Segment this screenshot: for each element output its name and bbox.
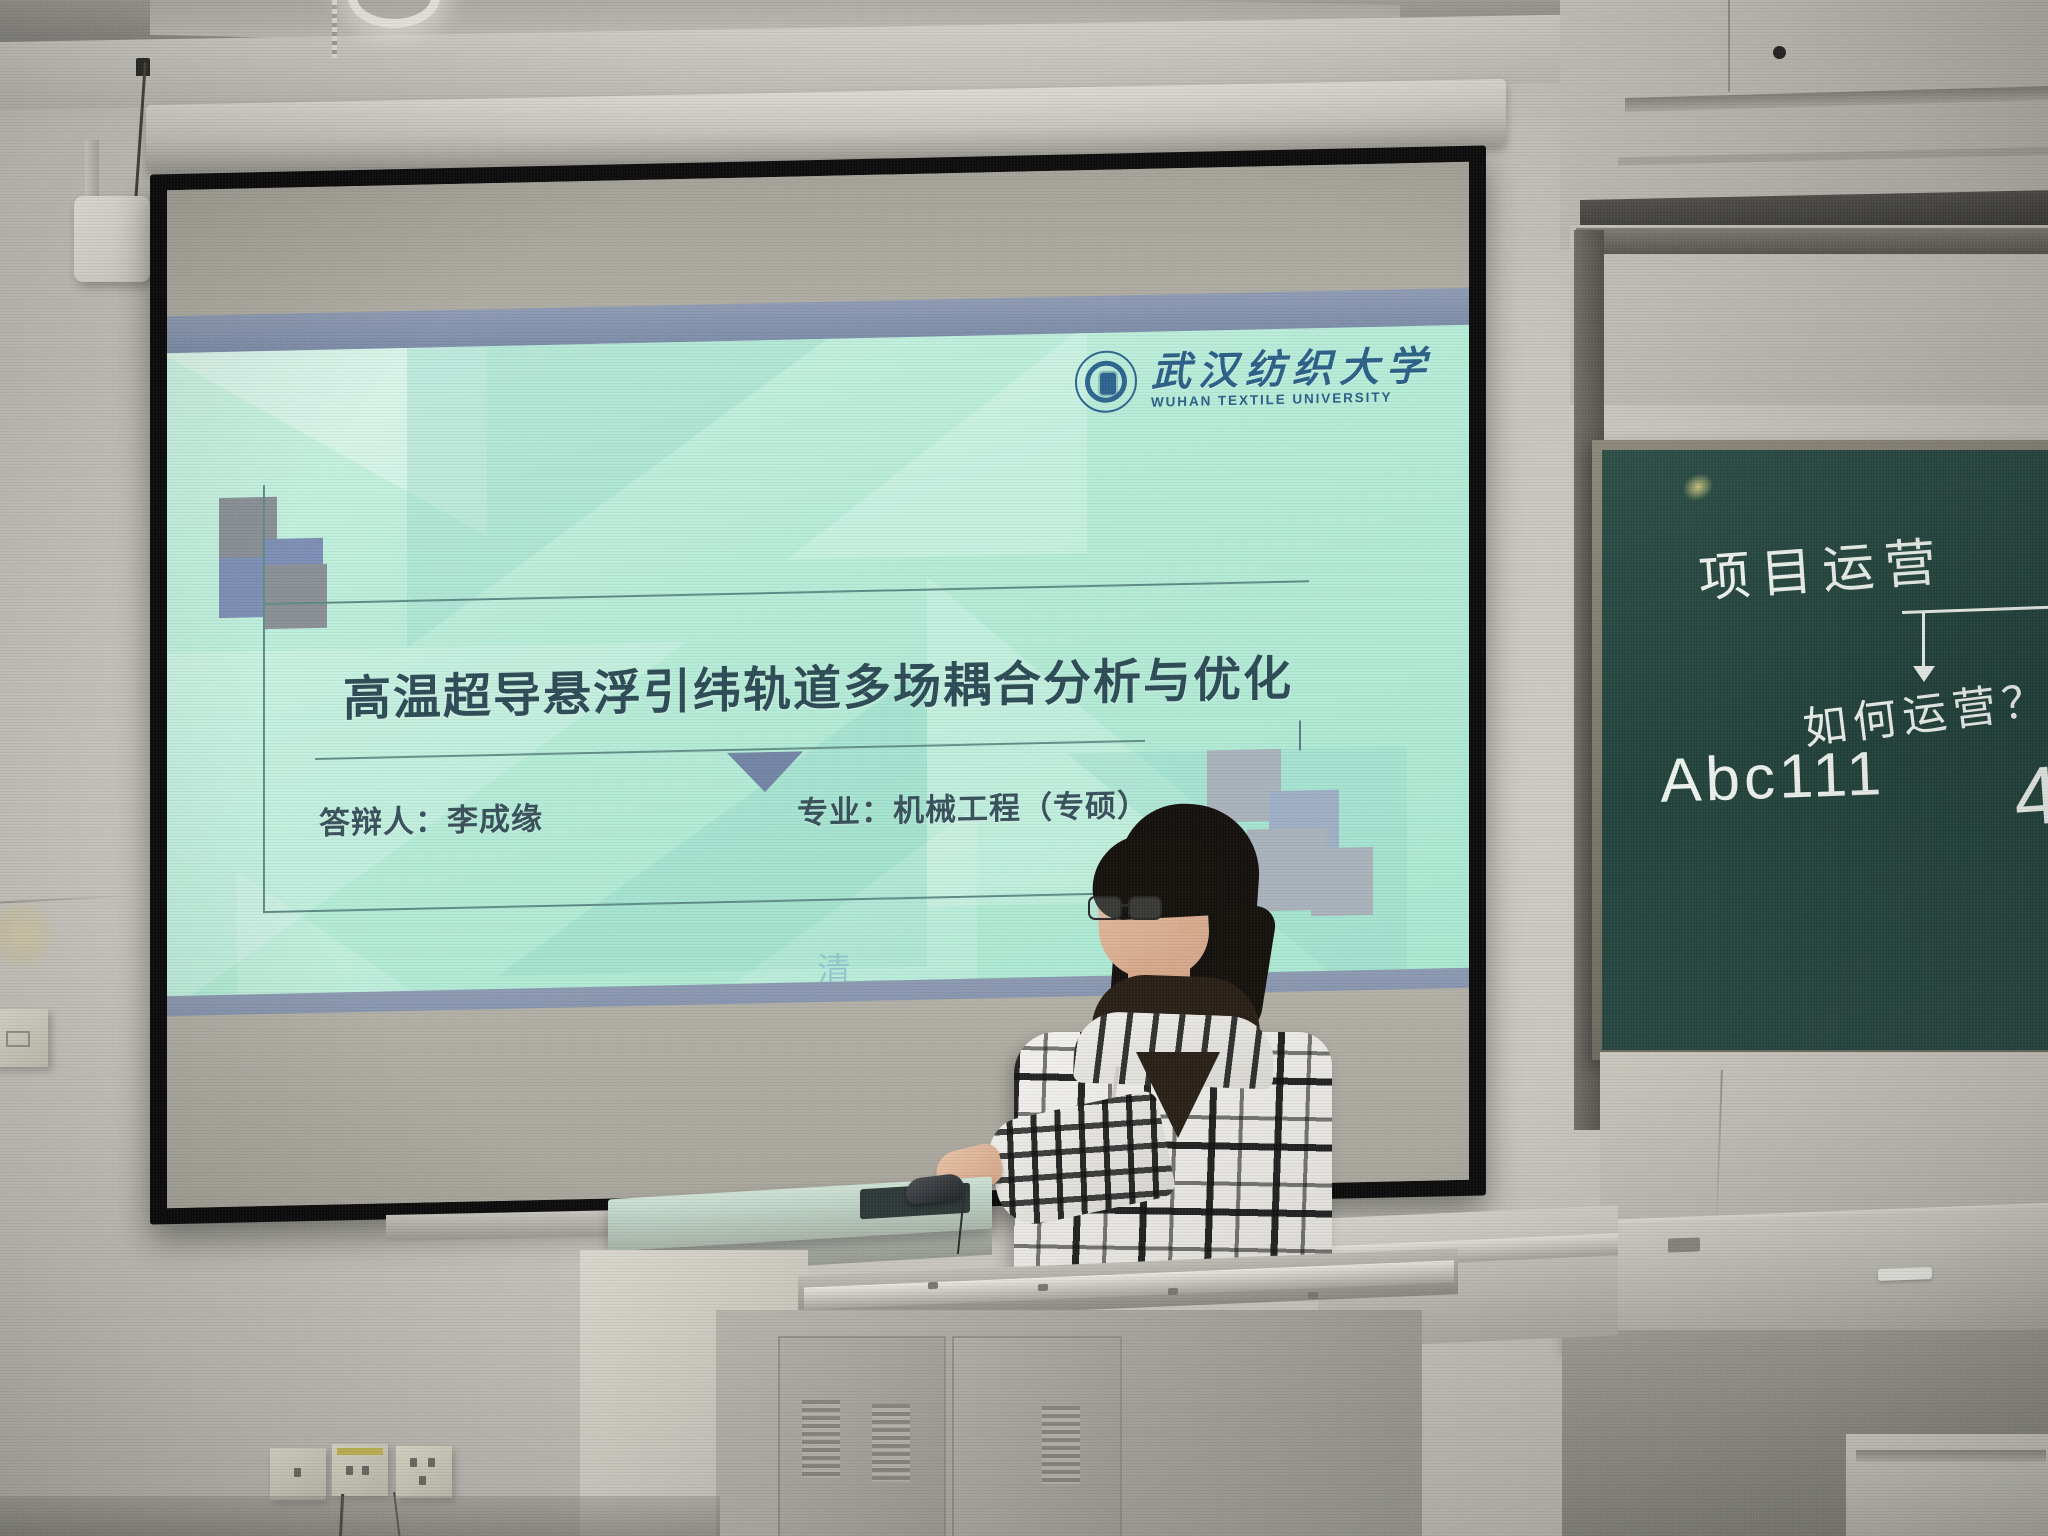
decor-tick-vertical (1299, 720, 1301, 750)
socket-hole (362, 1466, 369, 1475)
presenter-label: 答辩人：李成缘 (319, 793, 543, 843)
socket-label-tape (337, 1448, 383, 1455)
wall-paint-blemish (0, 900, 56, 970)
socket-hole (419, 1476, 426, 1485)
glasses-lens-left (1088, 896, 1122, 920)
ledge-clip (1668, 1237, 1700, 1252)
blackboard-surface: 项目运营 如何运营？ Abc111 4 (1602, 450, 2048, 1050)
wall-socket[interactable] (332, 1444, 388, 1496)
wall-socket[interactable] (270, 1448, 326, 1500)
university-name-cn: 武汉纺织大学 (1151, 346, 1433, 394)
vent-grille-icon (802, 1400, 840, 1478)
classroom-photo-scene: ThreeStars (0, 0, 2048, 1536)
chalk-smudge (1678, 468, 1719, 507)
rail-screw (1308, 1292, 1318, 1299)
glasses-bridge (1122, 904, 1130, 907)
rail-screw (1168, 1288, 1178, 1295)
chalk-ledge (1562, 1208, 2048, 1347)
lectern-door[interactable] (952, 1336, 1122, 1536)
lectern-door[interactable] (778, 1336, 946, 1536)
blackboard-line-3: Abc111 (1659, 738, 1886, 817)
poly-shape (787, 325, 1087, 560)
chalk-stick-icon (1878, 1267, 1932, 1281)
presenter (1032, 800, 1332, 1270)
lamp-chain (332, 0, 337, 58)
glasses-lens-right (1128, 896, 1162, 920)
university-logo: 武汉纺织大学 WUHAN TEXTILE UNIVERSITY (1075, 344, 1433, 414)
blackboard: 项目运营 如何运营？ Abc111 4 (1592, 440, 2048, 1060)
vent-grille-icon (1042, 1406, 1080, 1484)
right-cabinet-rail (1856, 1450, 2046, 1462)
wall-socket-left[interactable] (0, 1009, 48, 1067)
wall-socket[interactable] (396, 1446, 452, 1498)
floor-shadow (0, 1496, 720, 1536)
socket-hole (294, 1468, 301, 1477)
glasses-icon (1088, 896, 1166, 922)
university-name-block: 武汉纺织大学 WUHAN TEXTILE UNIVERSITY (1151, 346, 1433, 410)
university-seal-icon (1075, 350, 1137, 413)
arrow-down-icon (1922, 612, 1925, 674)
socket-hole (346, 1466, 353, 1475)
socket-hole (410, 1458, 417, 1467)
blackboard-line-4: 4 (2011, 749, 2048, 846)
rail-screw (928, 1282, 938, 1289)
socket-hole (428, 1458, 435, 1467)
blackboard-rail-top (1576, 228, 2048, 254)
blackboard-line-1: 项目运营 (1696, 519, 1949, 611)
vent-grille-icon (872, 1404, 910, 1482)
hanging-wire (1728, 0, 1730, 92)
wall-nail (1773, 46, 1786, 59)
wall-conduit (85, 140, 99, 202)
wireless-access-point-box (74, 196, 150, 282)
rail-screw (1038, 1284, 1048, 1291)
decor-tick-vertical (263, 485, 265, 605)
